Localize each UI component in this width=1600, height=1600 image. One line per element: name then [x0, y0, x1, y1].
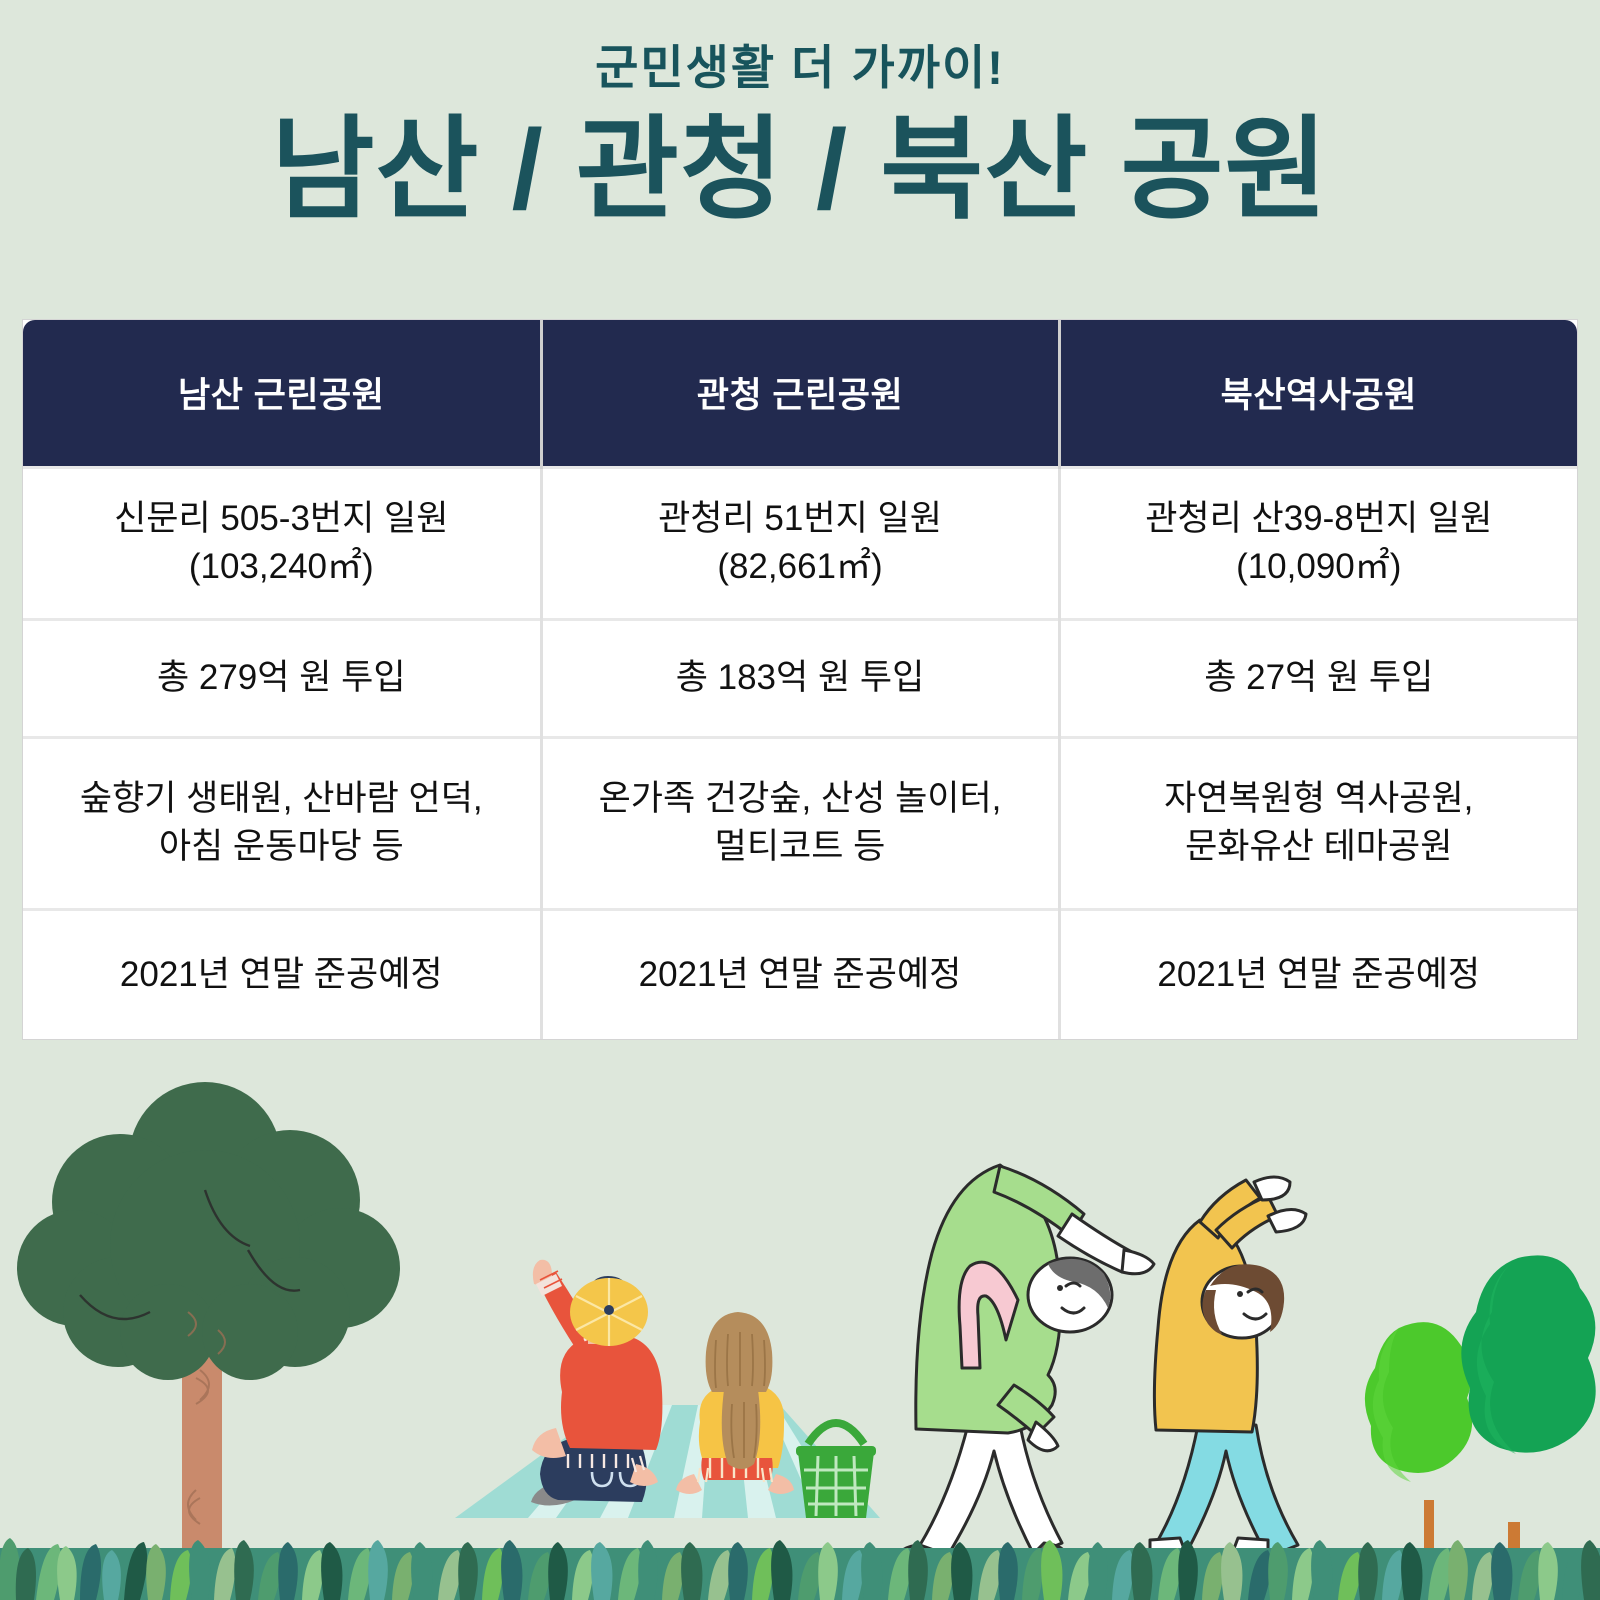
- small-tree-dark-icon: [1461, 1255, 1595, 1600]
- area-value: (103,240㎡: [189, 547, 362, 586]
- cell-line-2: 멀티코트 등: [555, 823, 1046, 871]
- table-row-budget: 총 279억 원 투입 총 183억 원 투입 총 27억 원 투입: [23, 619, 1577, 737]
- poster-subtitle: 군민생활 더 가까이!: [0, 42, 1600, 94]
- cell-budget-buksan: 총 27억 원 투입: [1059, 619, 1577, 737]
- park-illustration: [0, 1040, 1600, 1600]
- stretching-woman-icon: [1134, 1177, 1306, 1570]
- big-tree-icon: [17, 1082, 400, 1550]
- picnic-blanket-icon: [455, 1405, 880, 1518]
- cell-features-namsan: 숲향기 생태원, 산바람 언덕, 아침 운동마당 등: [23, 737, 541, 909]
- cell-features-gwancheong: 온가족 건강숲, 산성 놀이터, 멀티코트 등: [541, 737, 1059, 909]
- cell-location-namsan: 신문리 505-3번지 일원 (103,240㎡): [23, 467, 541, 619]
- cell-features-buksan: 자연복원형 역사공원, 문화유산 테마공원: [1059, 737, 1577, 909]
- cell-location-buksan: 관청리 산39-8번지 일원 (10,090㎡): [1059, 467, 1577, 619]
- cell-schedule-buksan: 2021년 연말 준공예정: [1059, 909, 1577, 1039]
- table-row-schedule: 2021년 연말 준공예정 2021년 연말 준공예정 2021년 연말 준공예…: [23, 909, 1577, 1039]
- area-value: (82,661㎡: [717, 547, 871, 586]
- table-header: 남산 근린공원 관청 근린공원 북산역사공원: [23, 320, 1577, 467]
- picnic-man-icon: [531, 1260, 662, 1506]
- grass-band: [0, 1538, 1600, 1600]
- cell-line-1: 온가족 건강숲, 산성 놀이터,: [555, 775, 1046, 823]
- cell-budget-namsan: 총 279억 원 투입: [23, 619, 541, 737]
- small-tree-light-icon: [1365, 1322, 1472, 1562]
- page-title: 남산 / 관청 / 북산 공원: [0, 104, 1600, 236]
- column-header-buksan: 북산역사공원: [1059, 320, 1577, 467]
- cell-line-2: 아침 운동마당 등: [35, 823, 528, 871]
- column-header-namsan: 남산 근린공원: [23, 320, 541, 467]
- table-row-features: 숲향기 생태원, 산바람 언덕, 아침 운동마당 등 온가족 건강숲, 산성 놀…: [23, 737, 1577, 909]
- area-value-real: (10,090㎡: [1236, 547, 1390, 586]
- cell-line-1: 자연복원형 역사공원,: [1073, 775, 1566, 823]
- cell-line-1: 숲향기 생태원, 산바람 언덕,: [35, 775, 528, 823]
- table-body: 신문리 505-3번지 일원 (103,240㎡) 관청리 51번지 일원 (8…: [23, 467, 1577, 1039]
- cell-schedule-namsan: 2021년 연말 준공예정: [23, 909, 541, 1039]
- area-close-paren: ): [1390, 547, 1402, 586]
- cell-line-2: (82,661㎡): [555, 543, 1046, 591]
- park-comparison-table-wrapper: 남산 근린공원 관청 근린공원 북산역사공원 신문리 505-3번지 일원 (1…: [23, 320, 1577, 1039]
- table-header-row: 남산 근린공원 관청 근린공원 북산역사공원: [23, 320, 1577, 467]
- cell-line-2: (10,090㎡): [1073, 543, 1566, 591]
- cell-budget-gwancheong: 총 183억 원 투입: [541, 619, 1059, 737]
- area-close-paren: ): [362, 547, 374, 586]
- cell-line-2: (103,240㎡): [35, 543, 528, 591]
- cell-line-1: 관청리 산39-8번지 일원: [1073, 495, 1566, 543]
- poster-header: 군민생활 더 가까이! 남산 / 관청 / 북산 공원: [0, 0, 1600, 236]
- picnic-woman-icon: [676, 1312, 794, 1494]
- cell-schedule-gwancheong: 2021년 연말 준공예정: [541, 909, 1059, 1039]
- cell-line-1: 관청리 51번지 일원: [555, 495, 1046, 543]
- area-close-paren: ): [871, 547, 883, 586]
- table-row-location-area: 신문리 505-3번지 일원 (103,240㎡) 관청리 51번지 일원 (8…: [23, 467, 1577, 619]
- park-comparison-table: 남산 근린공원 관청 근린공원 북산역사공원 신문리 505-3번지 일원 (1…: [23, 320, 1577, 1039]
- stretching-man-icon: [896, 1165, 1154, 1563]
- picnic-basket-icon: [796, 1423, 876, 1518]
- column-header-gwancheong: 관청 근린공원: [541, 320, 1059, 467]
- picnic-scene-icon: [455, 1260, 880, 1518]
- cell-location-gwancheong: 관청리 51번지 일원 (82,661㎡): [541, 467, 1059, 619]
- cell-line-2: 문화유산 테마공원: [1073, 823, 1566, 871]
- cell-line-1: 신문리 505-3번지 일원: [35, 495, 528, 543]
